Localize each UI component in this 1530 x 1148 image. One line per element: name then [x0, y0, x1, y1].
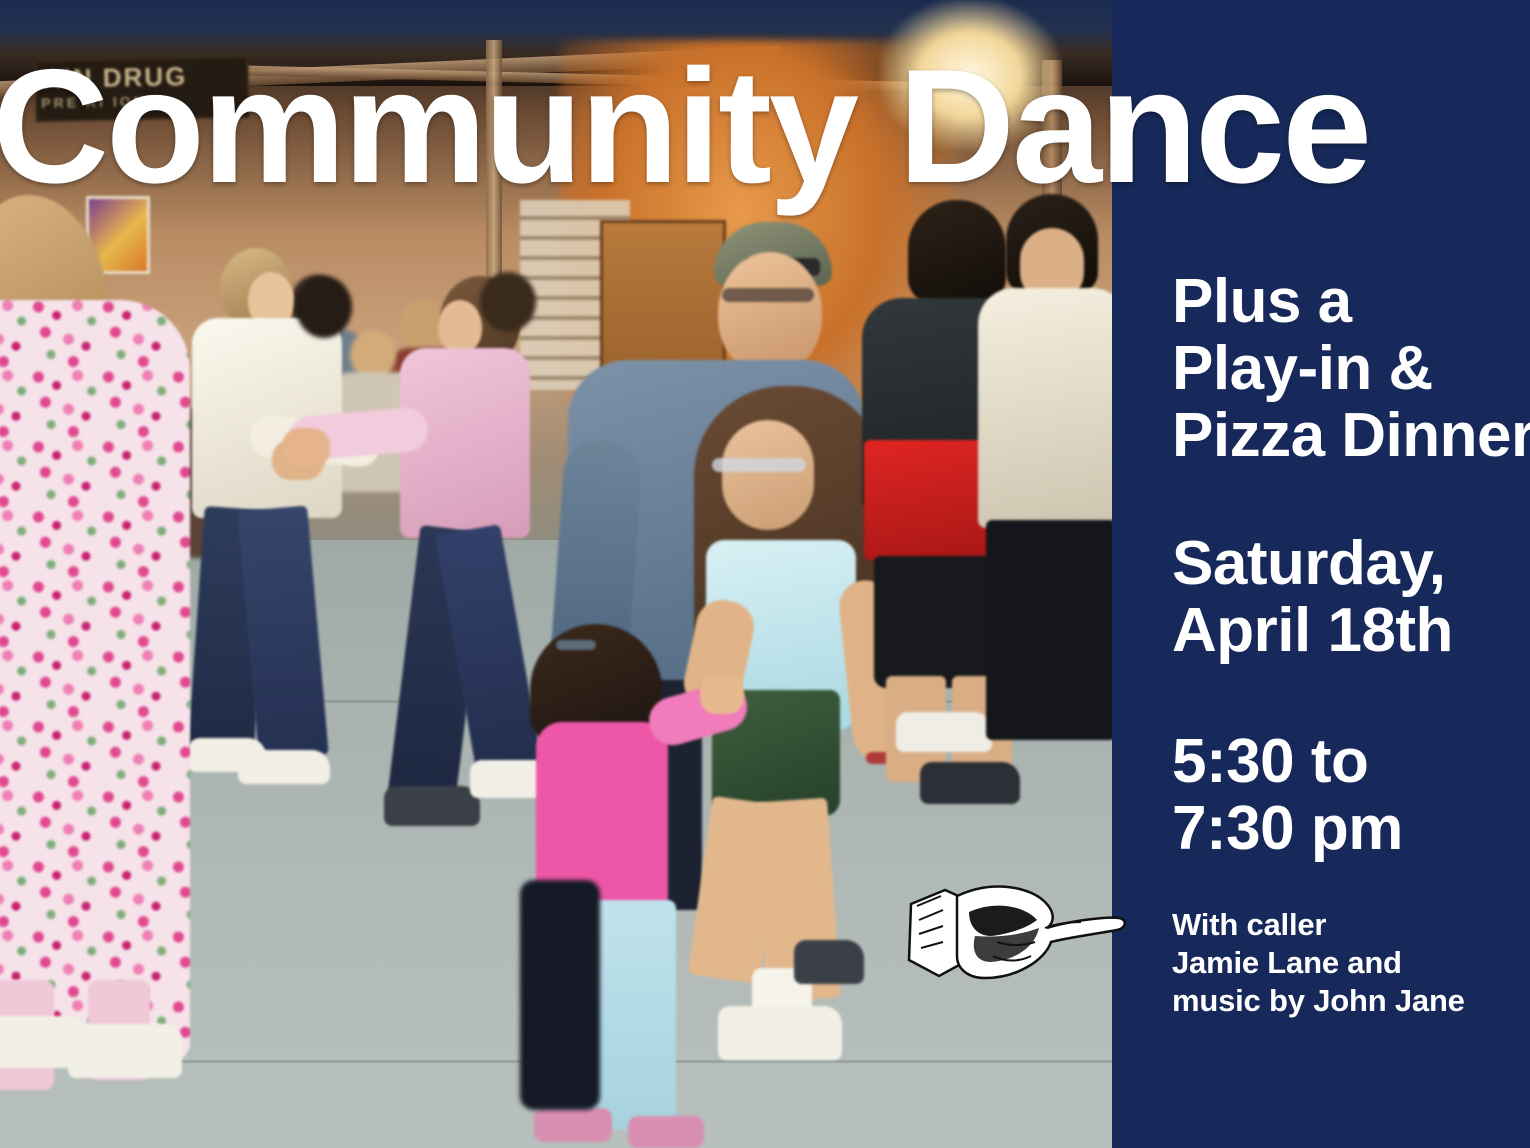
- date-line: April 18th: [1172, 597, 1453, 664]
- time-line: 7:30 pm: [1172, 795, 1403, 862]
- dancer-face: [722, 420, 814, 530]
- floral-dress-dancer: [0, 300, 190, 1060]
- dancer-leg: [986, 520, 1112, 740]
- dancer-torso: [978, 288, 1112, 528]
- subtitle-block: Plus a Play-in & Pizza Dinner: [1172, 268, 1530, 469]
- dancer-shoe: [794, 940, 864, 984]
- toddler-shoe: [628, 1116, 704, 1148]
- page-title: Community Dance: [0, 46, 1369, 208]
- dancer-head: [718, 252, 822, 374]
- eyeglasses-icon: [712, 458, 806, 472]
- dancer-shoe: [384, 786, 480, 826]
- background-dancer: [296, 276, 352, 338]
- dancer-shoe: [718, 1006, 842, 1060]
- dancer-hand: [282, 428, 330, 468]
- community-dance-poster: AIN DRUG PRE RI ION: [0, 0, 1530, 1148]
- date-block: Saturday, April 18th: [1172, 530, 1453, 664]
- subtitle-line: Play-in &: [1172, 335, 1530, 402]
- dancer-face: [438, 300, 482, 354]
- toddler-shoe: [534, 1108, 612, 1142]
- dancer-shoe: [238, 750, 330, 784]
- pointing-hand-icon: [905, 872, 1130, 992]
- eyeglasses-icon: [722, 288, 814, 302]
- dancer-shoe: [920, 762, 1020, 804]
- dancer-shoe: [68, 1024, 182, 1078]
- toddler-hand: [700, 676, 744, 714]
- time-line: 5:30 to: [1172, 728, 1403, 795]
- dancer-shoe: [896, 712, 992, 752]
- subtitle-line: Plus a: [1172, 268, 1530, 335]
- credits-block: With caller Jamie Lane and music by John…: [1172, 906, 1465, 1020]
- time-block: 5:30 to 7:30 pm: [1172, 728, 1403, 862]
- credit-line: With caller: [1172, 906, 1465, 944]
- credit-line: music by John Jane: [1172, 982, 1465, 1020]
- hair-clip-icon: [556, 640, 596, 650]
- date-line: Saturday,: [1172, 530, 1453, 597]
- background-dancer: [480, 272, 536, 332]
- credit-line: Jamie Lane and: [1172, 944, 1465, 982]
- dancer-silhouette: [520, 880, 600, 1110]
- subtitle-line: Pizza Dinner: [1172, 402, 1530, 469]
